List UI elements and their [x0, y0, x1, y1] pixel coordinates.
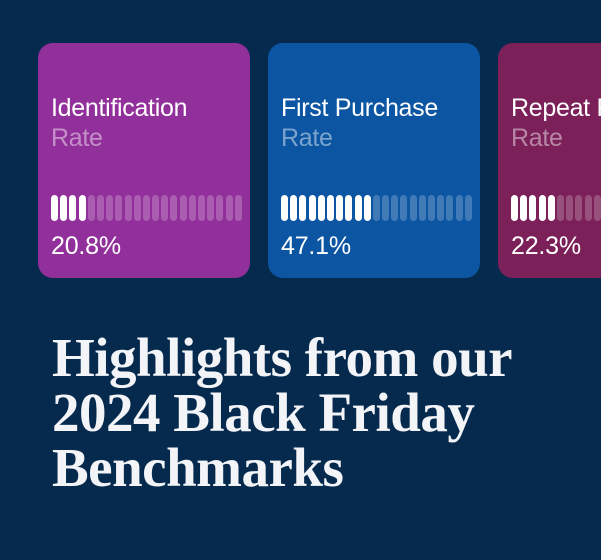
gauge-segment — [161, 195, 168, 221]
gauge-segment — [88, 195, 95, 221]
gauge-segment — [143, 195, 150, 221]
gauge-segment — [355, 195, 362, 221]
gauge-segment — [585, 195, 592, 221]
gauge-segment — [216, 195, 223, 221]
gauge-segment — [391, 195, 398, 221]
gauge-segment — [299, 195, 306, 221]
gauge-segment — [97, 195, 104, 221]
metric-card-title: First Purchase — [281, 93, 467, 123]
gauge-segment — [557, 195, 564, 221]
gauge-segment — [170, 195, 177, 221]
gauge-segment — [198, 195, 205, 221]
metric-card-value: 22.3% — [511, 231, 581, 261]
gauge-segment — [125, 195, 132, 221]
gauge-segment — [410, 195, 417, 221]
metric-card-title: Repeat Purchase — [511, 93, 601, 123]
page-root: IdentificationRate20.8%First PurchaseRat… — [0, 0, 601, 560]
gauge-segment — [152, 195, 159, 221]
gauge-segment — [189, 195, 196, 221]
gauge-segment — [428, 195, 435, 221]
gauge-segment — [79, 195, 86, 221]
gauge-segment — [309, 195, 316, 221]
gauge-segment — [594, 195, 601, 221]
gauge-segment — [539, 195, 546, 221]
gauge-segment — [180, 195, 187, 221]
gauge-segment — [60, 195, 67, 221]
metric-card-subtitle: Rate — [51, 123, 237, 154]
metric-card[interactable]: First PurchaseRate47.1% — [268, 43, 480, 278]
gauge-segment — [575, 195, 582, 221]
gauge-segment — [382, 195, 389, 221]
gauge-segment — [115, 195, 122, 221]
gauge-segment — [69, 195, 76, 221]
gauge-segment — [106, 195, 113, 221]
gauge-segment — [520, 195, 527, 221]
gauge-segment — [566, 195, 573, 221]
gauge-segment — [318, 195, 325, 221]
gauge-segment — [345, 195, 352, 221]
gauge-segment — [226, 195, 233, 221]
gauge-segment — [529, 195, 536, 221]
metric-gauge — [51, 195, 242, 221]
gauge-segment — [364, 195, 371, 221]
gauge-segment — [235, 195, 242, 221]
metric-cards-row: IdentificationRate20.8%First PurchaseRat… — [38, 43, 601, 278]
metric-card-subtitle: Rate — [281, 123, 467, 154]
gauge-segment — [290, 195, 297, 221]
gauge-segment — [134, 195, 141, 221]
gauge-segment — [437, 195, 444, 221]
gauge-segment — [548, 195, 555, 221]
gauge-segment — [465, 195, 472, 221]
gauge-segment — [446, 195, 453, 221]
gauge-segment — [281, 195, 288, 221]
gauge-segment — [336, 195, 343, 221]
gauge-segment — [207, 195, 214, 221]
metric-card[interactable]: Repeat PurchaseRate22.3% — [498, 43, 601, 278]
gauge-segment — [400, 195, 407, 221]
metric-card-subtitle: Rate — [511, 123, 601, 154]
metric-card-value: 47.1% — [281, 231, 351, 261]
gauge-segment — [419, 195, 426, 221]
gauge-segment — [456, 195, 463, 221]
gauge-segment — [327, 195, 334, 221]
gauge-segment — [511, 195, 518, 221]
gauge-segment — [51, 195, 58, 221]
gauge-segment — [373, 195, 380, 221]
metric-card[interactable]: IdentificationRate20.8% — [38, 43, 250, 278]
metric-gauge — [281, 195, 472, 221]
page-headline: Highlights from our 2024 Black Friday Be… — [52, 330, 552, 495]
metric-card-value: 20.8% — [51, 231, 121, 261]
metric-card-title: Identification — [51, 93, 237, 123]
metric-gauge — [511, 195, 601, 221]
